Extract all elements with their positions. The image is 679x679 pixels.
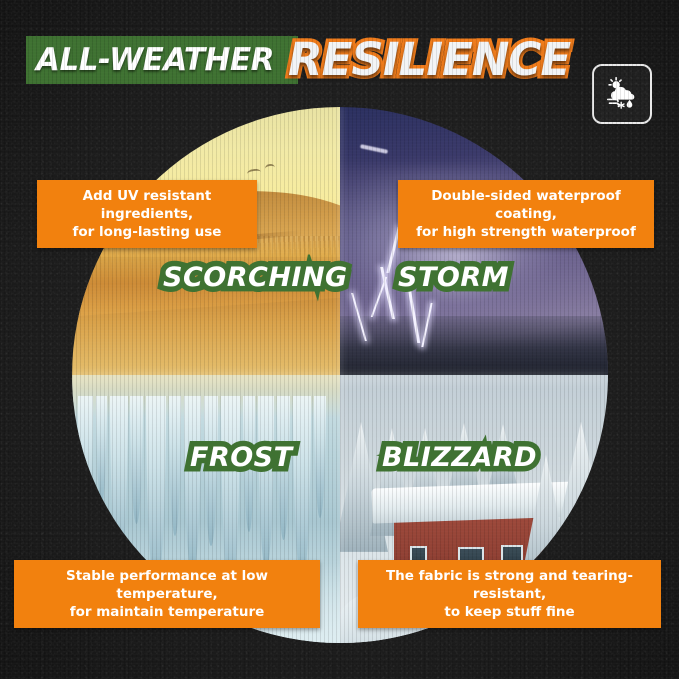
callout-storm: Double-sided waterproof coating, for hig… xyxy=(398,180,654,248)
quadrant-title-frost: FROST xyxy=(190,441,293,475)
bird-icon xyxy=(264,163,275,172)
callout-frost: Stable performance at low temperature, f… xyxy=(14,560,320,628)
callout-blizzard: The fabric is strong and tearing-resista… xyxy=(358,560,661,628)
infographic-poster: ALL-WEATHER RESILIENCE xyxy=(0,0,679,679)
sun-cloud-rain-snow-wind-icon xyxy=(602,74,642,114)
desert-dunes xyxy=(72,236,340,375)
quadrant-title-scorching: SCORCHING xyxy=(163,261,348,295)
page-title-primary: ALL-WEATHER xyxy=(36,42,274,78)
quadrant-title-storm: STORM xyxy=(398,261,509,295)
page-title-secondary: RESILIENCE xyxy=(288,32,570,88)
quadrant-title-blizzard: BLIZZARD xyxy=(382,441,537,475)
callout-scorching: Add UV resistant ingredients, for long-l… xyxy=(37,180,257,248)
header: ALL-WEATHER RESILIENCE xyxy=(0,28,679,94)
storm-horizon xyxy=(340,316,608,375)
